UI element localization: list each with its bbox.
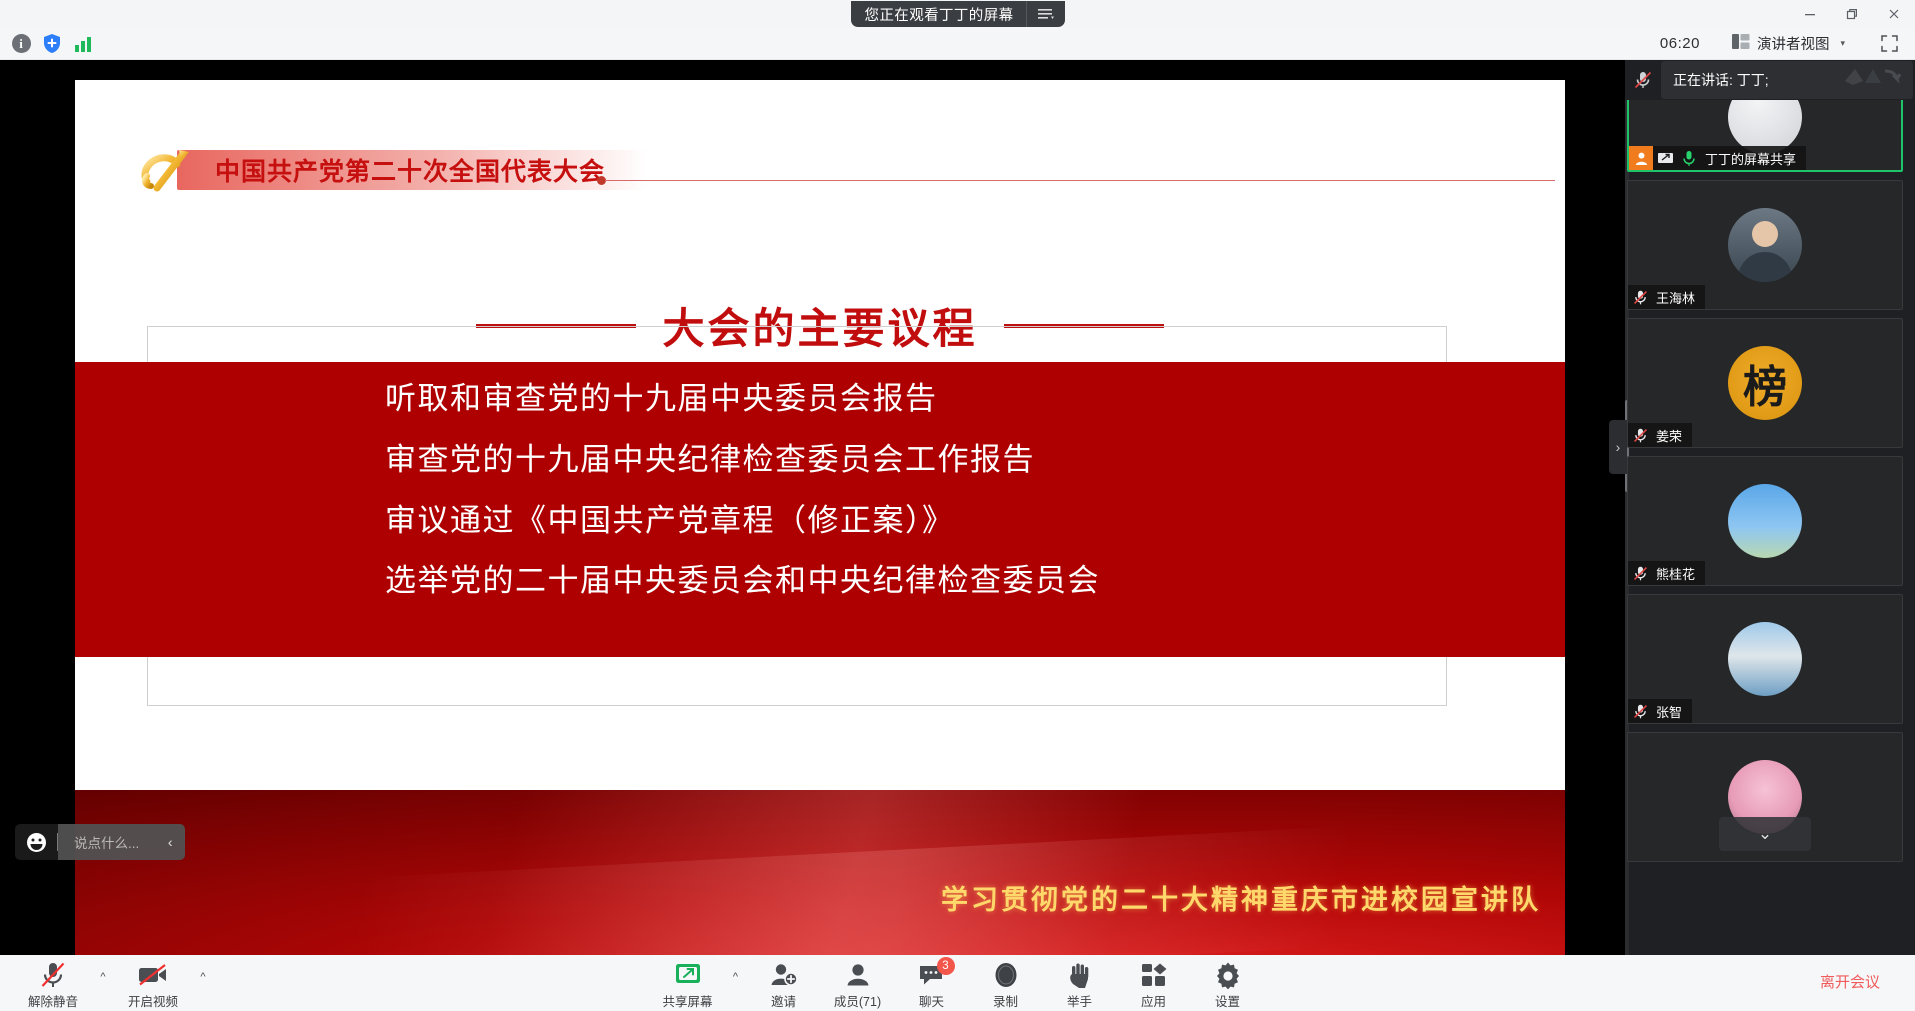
members-label: 成员(71) <box>834 991 881 1010</box>
list-item[interactable]: 王海林 <box>1627 180 1903 310</box>
mic-muted-icon <box>1625 69 1661 91</box>
unmute-label: 解除静音 <box>28 991 78 1010</box>
party-emblem-icon <box>135 142 197 198</box>
participant-name: 姜荣 <box>1652 426 1692 445</box>
signal-bars-icon[interactable] <box>72 33 94 55</box>
share-screen-label: 共享屏幕 <box>662 991 712 1010</box>
raise-hand-icon <box>1066 960 1094 990</box>
sidebar-collapse-handle[interactable]: › <box>1609 420 1627 474</box>
leave-meeting-button[interactable]: 离开会议 <box>1803 963 1897 1000</box>
host-icon <box>1629 146 1653 170</box>
agenda-item: 听取和审查党的十九届中央委员会报告 <box>385 380 1485 419</box>
window-controls <box>1789 0 1915 28</box>
main-controls: 共享屏幕 ^ 邀请 <box>651 955 1265 1011</box>
screen-share-icon <box>1653 146 1677 170</box>
toolbar-right-controls: 06:20 演讲者视图 ▾ <box>1648 29 1915 58</box>
person-icon <box>843 960 873 990</box>
fullscreen-icon[interactable] <box>1871 31 1907 57</box>
chevron-down-icon: ▾ <box>1840 38 1845 49</box>
slide-header-text: 中国共产党第二十次全国代表大会 <box>215 152 605 188</box>
toolbar-left-icons: i <box>0 33 94 55</box>
tile-badge: 张智 <box>1628 699 1692 723</box>
list-item[interactable]: 熊桂花 <box>1627 456 1903 586</box>
mic-muted-icon <box>1628 561 1652 585</box>
start-video-button[interactable]: 开启视频 <box>116 955 190 1011</box>
restore-icon[interactable] <box>1831 0 1873 28</box>
avatar <box>1728 484 1802 558</box>
avatar: 榜 <box>1728 346 1802 420</box>
shield-plus-icon[interactable] <box>41 33 63 55</box>
list-item[interactable]: 张智 <box>1627 594 1903 724</box>
settings-label: 设置 <box>1215 991 1240 1010</box>
chat-unread-badge: 3 <box>937 957 955 975</box>
invite-button[interactable]: 邀请 <box>747 955 821 1011</box>
avatar <box>1728 622 1802 696</box>
participant-name: 熊桂花 <box>1652 564 1705 583</box>
settings-button[interactable]: 设置 <box>1191 955 1265 1011</box>
layout-icon <box>1732 34 1750 53</box>
floating-chat-bar[interactable]: 说点什么... ‹ <box>15 824 185 860</box>
raise-hand-label: 举手 <box>1067 991 1092 1010</box>
avatar-text: 榜 <box>1743 351 1787 415</box>
slide-footer-banner: 学习贯彻党的二十大精神重庆市进校园宣讲队 <box>75 790 1565 955</box>
emoji-icon[interactable] <box>15 824 57 860</box>
chat-label: 聊天 <box>919 991 944 1010</box>
screen-share-banner[interactable]: 您正在观看丁丁的屏幕 <box>851 1 1065 27</box>
info-icon[interactable]: i <box>10 33 32 55</box>
active-speaker-bar: 正在讲话: 丁丁; <box>1625 60 1915 100</box>
record-button[interactable]: 录制 <box>969 955 1043 1011</box>
invite-person-icon <box>769 960 799 990</box>
list-item[interactable]: 丁丁的屏幕共享 <box>1627 100 1903 172</box>
tile-badge: 王海林 <box>1628 285 1705 309</box>
view-mode-selector[interactable]: 演讲者视图 ▾ <box>1720 29 1857 58</box>
apps-label: 应用 <box>1141 991 1166 1010</box>
invite-label: 邀请 <box>771 991 796 1010</box>
close-icon[interactable] <box>1873 0 1915 28</box>
participant-name: 王海林 <box>1652 288 1705 307</box>
slide-header: 中国共产党第二十次全国代表大会 <box>135 142 647 198</box>
participant-tile-list: 丁丁的屏幕共享 王海林 <box>1627 100 1911 955</box>
chat-button[interactable]: 3 聊天 <box>895 955 969 1011</box>
minimize-icon[interactable] <box>1789 0 1831 28</box>
hamburger-menu-icon[interactable] <box>1027 1 1065 27</box>
participant-name: 丁丁的屏幕共享 <box>1701 149 1806 168</box>
speaking-status: 正在讲话: 丁丁; <box>1661 61 1913 99</box>
agenda-list: 听取和审查党的十九届中央委员会报告 审查党的十九届中央纪律检查委员会工作报告 审… <box>385 380 1485 601</box>
share-banner-label: 您正在观看丁丁的屏幕 <box>865 4 1026 25</box>
mic-muted-icon <box>1628 699 1652 723</box>
unmute-button[interactable]: 解除静音 <box>16 955 90 1011</box>
presentation-slide: 中国共产党第二十次全国代表大会 大会的主要议程 听取和审查党的十九届中央委员会报… <box>75 80 1565 955</box>
tile-badge: 熊桂花 <box>1628 561 1705 585</box>
screen-share-icon <box>673 960 703 990</box>
tile-badge: 丁丁的屏幕共享 <box>1629 146 1806 170</box>
shared-slide-surface: 中国共产党第二十次全国代表大会 大会的主要议程 听取和审查党的十九届中央委员会报… <box>75 80 1565 955</box>
participant-name: 张智 <box>1652 702 1692 721</box>
share-options-caret[interactable]: ^ <box>725 955 747 1011</box>
audio-video-controls: 解除静音 ^ 开启视频 ^ <box>0 955 214 1011</box>
mic-active-icon <box>1677 146 1701 170</box>
chevron-left-icon[interactable]: ‹ <box>155 824 185 860</box>
header-rule <box>605 180 1555 181</box>
shared-screen-stage[interactable]: 中国共产党第二十次全国代表大会 大会的主要议程 听取和审查党的十九届中央委员会报… <box>0 60 1625 955</box>
list-item[interactable]: 榜 姜荣 <box>1627 318 1903 448</box>
video-options-caret[interactable]: ^ <box>192 955 214 1011</box>
avatar <box>1728 208 1802 282</box>
chevron-down-icon[interactable]: ⌄ <box>1719 817 1811 851</box>
speaker-decoration <box>1841 65 1903 89</box>
mic-muted-icon <box>38 960 68 990</box>
participant-sidebar: › 正在讲话: 丁丁; <box>1625 60 1915 955</box>
agenda-item: 审议通过《中国共产党章程（修正案）》 <box>385 502 1485 541</box>
apps-grid-icon <box>1140 960 1168 990</box>
share-screen-button[interactable]: 共享屏幕 <box>651 955 725 1011</box>
slide-header-plate: 中国共产党第二十次全国代表大会 <box>177 150 647 190</box>
meeting-window: 您正在观看丁丁的屏幕 <box>0 0 1915 1011</box>
raise-hand-button[interactable]: 举手 <box>1043 955 1117 1011</box>
meeting-timer: 06:20 <box>1648 32 1712 55</box>
start-video-label: 开启视频 <box>128 991 178 1010</box>
view-mode-label: 演讲者视图 <box>1757 33 1830 54</box>
chat-input[interactable]: 说点什么... <box>58 824 155 860</box>
speaking-status-label: 正在讲话: 丁丁; <box>1673 70 1769 90</box>
audio-options-caret[interactable]: ^ <box>92 955 114 1011</box>
mic-muted-icon <box>1628 423 1652 447</box>
members-button[interactable]: 成员(71) <box>821 955 895 1011</box>
record-circle-icon <box>992 960 1020 990</box>
slide-footer-text: 学习贯彻党的二十大精神重庆市进校园宣讲队 <box>941 878 1541 917</box>
meeting-controls-bar: 解除静音 ^ 开启视频 ^ <box>0 955 1915 1011</box>
list-item[interactable]: ⌄ <box>1627 732 1903 862</box>
camera-off-icon <box>137 960 169 990</box>
meeting-toolbar: i 06:20 <box>0 28 1915 60</box>
agenda-item: 审查党的十九届中央纪律检查委员会工作报告 <box>385 441 1485 480</box>
record-label: 录制 <box>993 991 1018 1010</box>
title-bar: 您正在观看丁丁的屏幕 <box>0 0 1915 28</box>
gear-icon <box>1214 960 1242 990</box>
apps-button[interactable]: 应用 <box>1117 955 1191 1011</box>
mic-muted-icon <box>1628 285 1652 309</box>
tile-badge: 姜荣 <box>1628 423 1692 447</box>
agenda-item: 选举党的二十届中央委员会和中央纪律检查委员会 <box>385 562 1485 601</box>
